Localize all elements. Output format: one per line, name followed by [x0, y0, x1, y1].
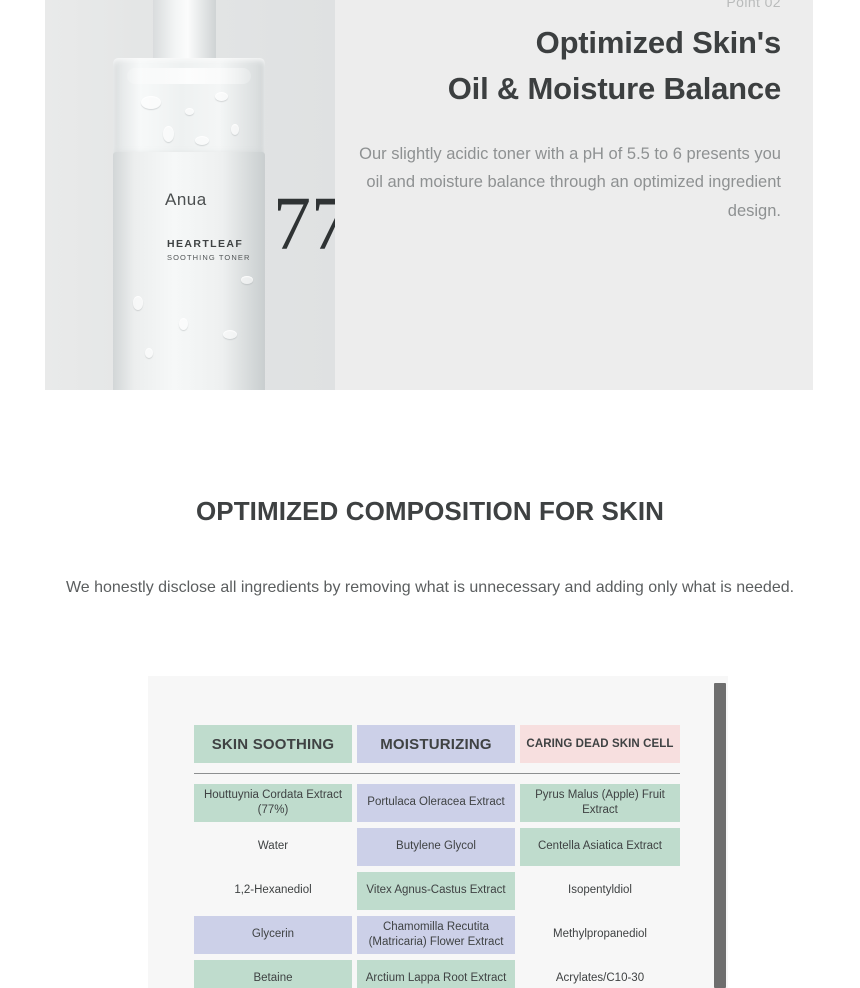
- ingredient-cell: Betaine: [194, 960, 352, 988]
- water-droplet: [241, 276, 253, 284]
- bottle-body: [113, 152, 265, 390]
- water-droplet: [195, 136, 209, 145]
- product-brand-label: Anua: [165, 190, 207, 210]
- ingredient-cell: Acrylates/C10-30: [520, 960, 680, 988]
- header-divider: [194, 773, 680, 774]
- water-droplet: [179, 318, 188, 330]
- product-name-line1: HEARTLEAF: [167, 238, 243, 250]
- water-droplet: [163, 126, 174, 142]
- ingredient-table-header-row: SKIN SOOTHING MOISTURIZING CARING DEAD S…: [194, 725, 684, 763]
- product-photo: Anua HEARTLEAF SOOTHING TONER 77 %: [45, 0, 335, 390]
- water-droplet: [185, 108, 194, 115]
- banner-copy: Point 02 Optimized Skin's Oil & Moisture…: [335, 0, 813, 390]
- water-droplet: [145, 348, 153, 358]
- ingredient-rows: Houttuynia Cordata Extract (77%) Portula…: [194, 784, 684, 988]
- product-name-line2: SOOTHING TONER: [167, 253, 250, 262]
- ingredient-cell: Glycerin: [194, 916, 352, 954]
- table-row: Glycerin Chamomilla Recutita (Matricaria…: [194, 916, 684, 954]
- ingredient-cell: Vitex Agnus-Castus Extract: [357, 872, 515, 910]
- table-row: Betaine Arctium Lappa Root Extract Acryl…: [194, 960, 684, 988]
- section-title: OPTIMIZED COMPOSITION FOR SKIN: [0, 496, 860, 527]
- section-subtitle: We honestly disclose all ingredients by …: [0, 575, 860, 600]
- ingredient-cell: Houttuynia Cordata Extract (77%): [194, 784, 352, 822]
- table-row: 1,2-Hexanediol Vitex Agnus-Castus Extrac…: [194, 872, 684, 910]
- scrollbar-thumb[interactable]: [714, 683, 726, 988]
- bottle-pump-stem: [153, 0, 216, 62]
- ingredient-cell: Pyrus Malus (Apple) Fruit Extract: [520, 784, 680, 822]
- banner-headline-line2: Oil & Moisture Balance: [341, 66, 781, 112]
- ingredient-cell: Butylene Glycol: [357, 828, 515, 866]
- water-droplet: [231, 124, 239, 135]
- column-header-skin-soothing: SKIN SOOTHING: [194, 725, 352, 763]
- ingredient-cell: Arctium Lappa Root Extract: [357, 960, 515, 988]
- ingredient-cell: Centella Asiatica Extract: [520, 828, 680, 866]
- banner-headline-line1: Optimized Skin's: [341, 20, 781, 66]
- point-number-label: Point 02: [726, 0, 781, 10]
- ingredient-cell: Isopentyldiol: [520, 872, 680, 910]
- water-droplet: [223, 330, 237, 339]
- banner-headline: Optimized Skin's Oil & Moisture Balance: [341, 20, 781, 112]
- water-droplet: [141, 96, 161, 109]
- water-droplet: [215, 92, 228, 101]
- ingredient-cell: Water: [194, 828, 352, 866]
- column-header-caring-dead-skin-cell: CARING DEAD SKIN CELL: [520, 725, 680, 763]
- heartleaf-percent-number: 77: [273, 186, 335, 262]
- ingredient-table: SKIN SOOTHING MOISTURIZING CARING DEAD S…: [194, 725, 684, 988]
- ingredient-panel: SKIN SOOTHING MOISTURIZING CARING DEAD S…: [148, 676, 728, 988]
- ingredient-cell: Portulaca Oleracea Extract: [357, 784, 515, 822]
- water-droplet: [133, 296, 143, 310]
- table-row: Houttuynia Cordata Extract (77%) Portula…: [194, 784, 684, 822]
- point-02-banner: Anua HEARTLEAF SOOTHING TONER 77 % Point…: [45, 0, 813, 390]
- vertical-scrollbar[interactable]: [712, 676, 728, 988]
- column-header-moisturizing: MOISTURIZING: [357, 725, 515, 763]
- banner-subcopy: Our slightly acidic toner with a pH of 5…: [341, 140, 781, 225]
- product-detail-page: Anua HEARTLEAF SOOTHING TONER 77 % Point…: [0, 0, 860, 988]
- ingredient-cell: 1,2-Hexanediol: [194, 872, 352, 910]
- ingredient-cell: Methylpropanediol: [520, 916, 680, 954]
- ingredient-cell: Chamomilla Recutita (Matricaria) Flower …: [357, 916, 515, 954]
- table-row: Water Butylene Glycol Centella Asiatica …: [194, 828, 684, 866]
